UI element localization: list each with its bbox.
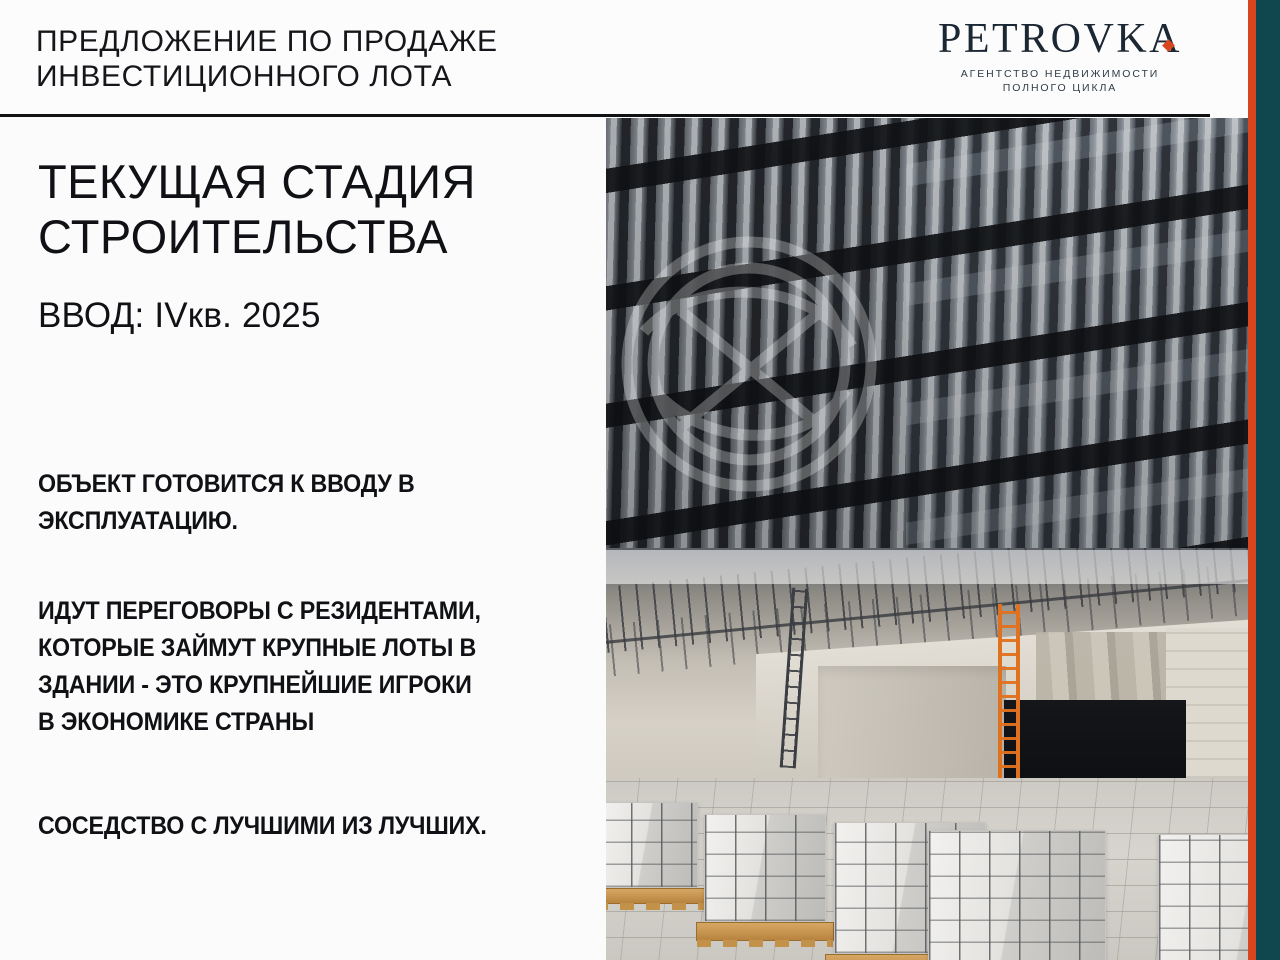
construction-photo: [606, 118, 1248, 960]
edge-accent-bar-orange: [1248, 0, 1256, 960]
logo-wordmark: PETROVKA: [934, 16, 1186, 62]
completion-date: ВВОД: IVкв. 2025: [38, 296, 321, 336]
header-divider: [0, 114, 1210, 117]
photo-content: [606, 118, 1248, 960]
brand-logo: PETROVKA АГЕНТСТВО НЕДВИЖИМОСТИ ПОЛНОГО …: [934, 16, 1186, 95]
block-stack: [704, 814, 826, 922]
content-column: ТЕКУЩАЯ СТАДИЯ СТРОИТЕЛЬСТВА ВВОД: IVкв.…: [0, 118, 606, 960]
block-stack: [1158, 834, 1248, 960]
facade-shading: [606, 118, 1248, 588]
block-pallet: [704, 814, 842, 941]
slide-header: ПРЕДЛОЖЕНИЕ ПО ПРОДАЖЕ ИНВЕСТИЦИОННОГО Л…: [0, 0, 1248, 116]
body-paragraph-2: ИДУТ ПЕРЕГОВОРЫ С РЕЗИДЕНТАМИ, КОТОРЫЕ З…: [38, 593, 548, 741]
body-paragraph-1: ОБЪЕКТ ГОТОВИТСЯ К ВВОДУ В ЭКСПЛУАТАЦИЮ.: [38, 466, 548, 540]
watermark-band: [606, 550, 1248, 584]
body-paragraph-3: СОСЕДСТВО С ЛУЧШИМИ ИЗ ЛУЧШИХ.: [38, 808, 548, 845]
paved-ground: [606, 778, 1248, 960]
header-title: ПРЕДЛОЖЕНИЕ ПО ПРОДАЖЕ ИНВЕСТИЦИОННОГО Л…: [36, 24, 498, 94]
section-title: ТЕКУЩАЯ СТАДИЯ СТРОИТЕЛЬСТВА: [38, 154, 476, 264]
block-stack: [928, 830, 1106, 960]
logo-tagline-line1: АГЕНТСТВО НЕДВИЖИМОСТИ: [934, 67, 1186, 81]
logo-tagline-line2: ПОЛНОГО ЦИКЛА: [934, 81, 1186, 95]
presentation-slide: ПРЕДЛОЖЕНИЕ ПО ПРОДАЖЕ ИНВЕСТИЦИОННОГО Л…: [0, 0, 1280, 960]
logo-wordmark-text: PETROVKA: [938, 16, 1182, 62]
podium-level: [606, 548, 1248, 798]
wooden-pallet: [606, 888, 705, 904]
block-pallet: [928, 830, 1126, 960]
building-facade: [606, 118, 1248, 588]
block-stack: [606, 802, 698, 888]
orange-scaffold-tower-icon: [998, 604, 1020, 798]
edge-accent-bar-teal: [1256, 0, 1280, 960]
block-pallet: [606, 802, 712, 904]
wooden-pallet: [696, 922, 834, 941]
block-pallet: [1158, 834, 1248, 960]
